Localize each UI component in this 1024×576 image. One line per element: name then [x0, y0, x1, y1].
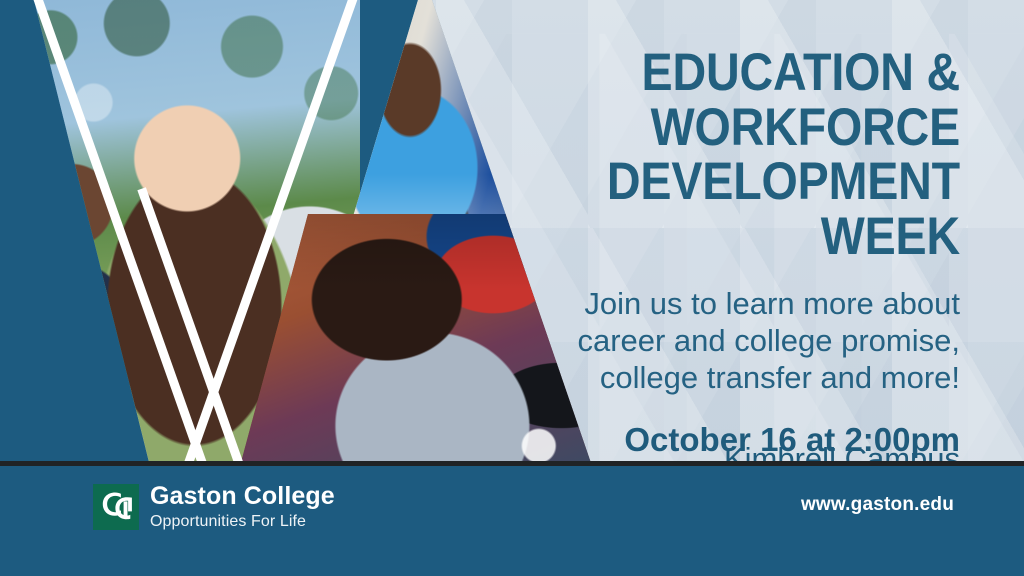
promotional-poster: EDUCATION & WORKFORCE DEVELOPMENT WEEK J… — [0, 0, 1024, 576]
footer-bar: Gaston College Opportunities For Life ww… — [0, 466, 1024, 576]
gaston-college-logo: Gaston College Opportunities For Life — [93, 484, 335, 530]
page-title: EDUCATION & WORKFORCE DEVELOPMENT WEEK — [502, 46, 960, 264]
headline-line-2: DEVELOPMENT WEEK — [607, 152, 960, 266]
subhead-line-2: career and college promise, — [577, 323, 960, 358]
college-tagline: Opportunities For Life — [150, 514, 335, 530]
headline-line-1: EDUCATION & WORKFORCE — [642, 43, 960, 157]
subhead-line-1: Join us to learn more about — [584, 286, 960, 321]
gc-monogram-icon — [93, 484, 139, 530]
website-url[interactable]: www.gaston.edu — [801, 494, 954, 516]
subhead-line-3: college transfer and more! — [600, 360, 960, 395]
poster-subhead: Join us to learn more about career and c… — [440, 286, 960, 397]
logo-wordmark: Gaston College Opportunities For Life — [150, 484, 335, 530]
college-name: Gaston College — [150, 484, 335, 509]
poster-copy: EDUCATION & WORKFORCE DEVELOPMENT WEEK J… — [440, 46, 960, 488]
